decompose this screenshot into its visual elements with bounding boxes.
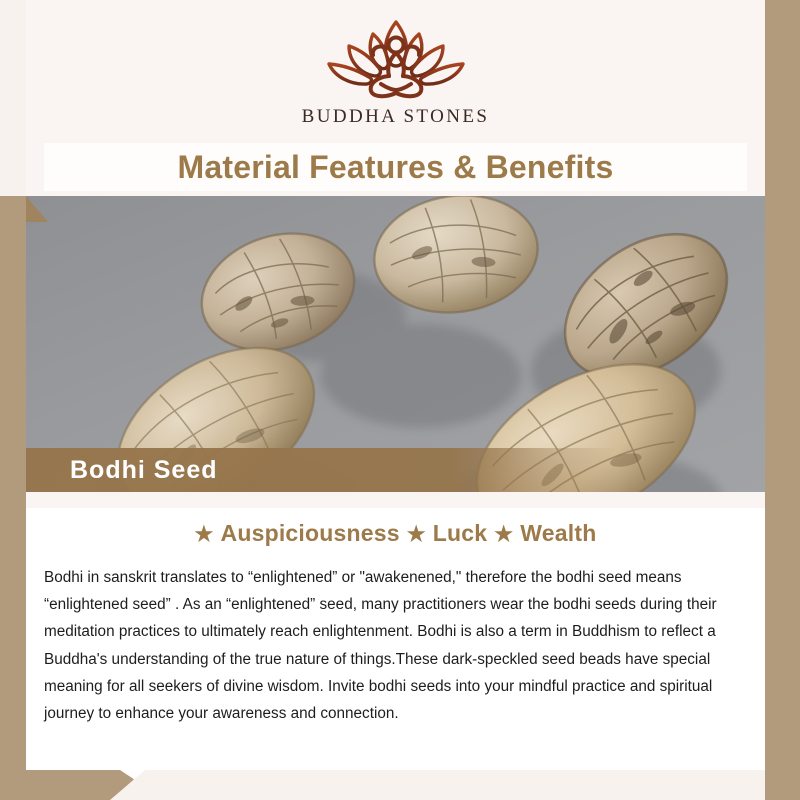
frame-band-left-cream [0, 0, 26, 200]
header-section: BUDDHA STONES Material Features & Benefi… [26, 0, 765, 196]
product-photo: Bodhi Seed [26, 196, 765, 492]
frame-band-bottom-right [765, 770, 800, 800]
star-icon-3: ★ [494, 523, 513, 546]
lotus-meditation-figure-icon [301, 14, 491, 102]
poster-root: BUDDHA STONES Material Features & Benefi… [0, 0, 800, 800]
benefit-label-2: Luck [433, 520, 487, 546]
frame-band-right [765, 0, 800, 800]
star-icon-1: ★ [195, 523, 214, 546]
benefit-label-1: Auspiciousness [221, 520, 400, 546]
brand-name: BUDDHA STONES [26, 106, 765, 128]
frame-band-bottom-cream [100, 770, 800, 800]
page-title: Material Features & Benefits [178, 149, 614, 186]
description-section: ★Auspiciousness★Luck★Wealth Bodhi in san… [26, 492, 765, 770]
brand-logo: BUDDHA STONES [26, 14, 765, 128]
photo-caption: Bodhi Seed [70, 456, 218, 485]
title-banner: Material Features & Benefits [44, 143, 747, 191]
benefit-label-3: Wealth [520, 520, 596, 546]
star-icon-2: ★ [407, 523, 426, 546]
photo-caption-bar: Bodhi Seed [26, 448, 618, 492]
panel-top-tint [26, 492, 765, 508]
description-paragraph: Bodhi in sanskrit translates to “enlight… [26, 547, 765, 727]
frame-band-left [0, 196, 26, 800]
